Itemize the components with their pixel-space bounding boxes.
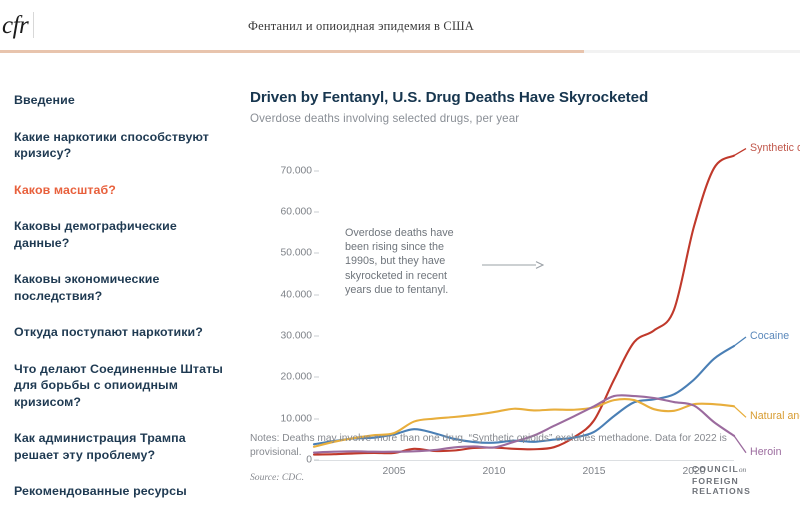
chart-card: Driven by Fentanyl, U.S. Drug Deaths Hav…: [240, 64, 800, 527]
chart-title: Driven by Fentanyl, U.S. Drug Deaths Hav…: [250, 89, 648, 106]
chart-source: Source: CDC.: [250, 472, 304, 483]
x-axis-line: [314, 460, 734, 461]
cfr-line-3: RELATIONS: [692, 486, 751, 496]
x-tick-label-2: 2015: [583, 466, 606, 477]
y-tick-label-2: 20.000: [281, 372, 313, 383]
y-tick-label-4: 40.000: [281, 289, 313, 300]
cfr-line-2: FOREIGN: [692, 476, 739, 486]
chart-annotation: Overdose deaths have been rising since t…: [345, 226, 475, 297]
series-leader-3: [734, 436, 746, 453]
cfr-line-1: COUNCIL: [692, 464, 739, 474]
series-label-1: Cocaine: [750, 330, 789, 342]
y-tick-label-1: 10.000: [281, 413, 313, 424]
sidebar-item-3[interactable]: Каковы демографические данные?: [14, 218, 224, 251]
logo-divider: [33, 12, 34, 38]
sidebar-item-5[interactable]: Откуда поступают наркотики?: [14, 324, 224, 341]
y-tick-mark-1: [314, 418, 319, 419]
y-tick-mark-5: [314, 253, 319, 254]
page-title: Фентанил и опиоидная эпидемия в США: [248, 19, 474, 34]
y-tick-label-3: 30.000: [281, 331, 313, 342]
page-root: cfr Фентанил и опиоидная эпидемия в США …: [0, 0, 800, 527]
chart-notes: Notes: Deaths may involve more than one …: [250, 432, 735, 459]
sidebar-item-4[interactable]: Каковы экономические последствия?: [14, 271, 224, 304]
y-tick-mark-6: [314, 212, 319, 213]
site-header: cfr Фентанил и опиоидная эпидемия в США: [0, 0, 800, 52]
series-label-2: Natural and semisynthetic opioids: [750, 410, 800, 422]
chart-subtitle: Overdose deaths involving selected drugs…: [250, 112, 519, 125]
line-series-1: [314, 346, 734, 444]
y-tick-label-5: 50.000: [281, 248, 313, 259]
sidebar-item-2[interactable]: Каков масштаб?: [14, 182, 224, 199]
y-tick-label-6: 60.000: [281, 207, 313, 218]
y-tick-mark-7: [314, 170, 319, 171]
series-leader-2: [734, 406, 746, 417]
sidebar-item-1[interactable]: Какие наркотики способствуют кризису?: [14, 129, 224, 162]
sidebar-nav: ВведениеКакие наркотики способствуют кри…: [14, 92, 224, 520]
y-tick-mark-4: [314, 294, 319, 295]
y-tick-label-7: 70.000: [281, 165, 313, 176]
x-tick-label-1: 2010: [483, 466, 506, 477]
y-tick-mark-3: [314, 336, 319, 337]
cfr-wordmark: COUNCILon FOREIGN RELATIONS: [692, 464, 751, 497]
sidebar-item-8[interactable]: Рекомендованные ресурсы: [14, 483, 224, 500]
x-tick-label-0: 2005: [383, 466, 406, 477]
reading-progress-bar: [0, 50, 584, 53]
sidebar-item-7[interactable]: Как администрация Трампа решает эту проб…: [14, 430, 224, 463]
chart-lines: [250, 148, 795, 478]
y-tick-mark-2: [314, 377, 319, 378]
y-tick-mark-0: [314, 460, 319, 461]
series-leader-0: [734, 149, 746, 156]
series-leader-1: [734, 337, 746, 346]
sidebar-item-6[interactable]: Что делают Соединенные Штаты для борьбы …: [14, 361, 224, 411]
cfr-logo[interactable]: cfr: [2, 12, 28, 40]
chart-plot-area: Overdose deaths have been rising since t…: [250, 148, 795, 478]
series-label-0: Synthetic opioids (mostly fentanyl): [750, 142, 800, 154]
annotation-arrow-icon: [482, 260, 544, 270]
sidebar-item-0[interactable]: Введение: [14, 92, 224, 109]
cfr-on: on: [739, 465, 746, 474]
series-label-3: Heroin: [750, 446, 782, 458]
